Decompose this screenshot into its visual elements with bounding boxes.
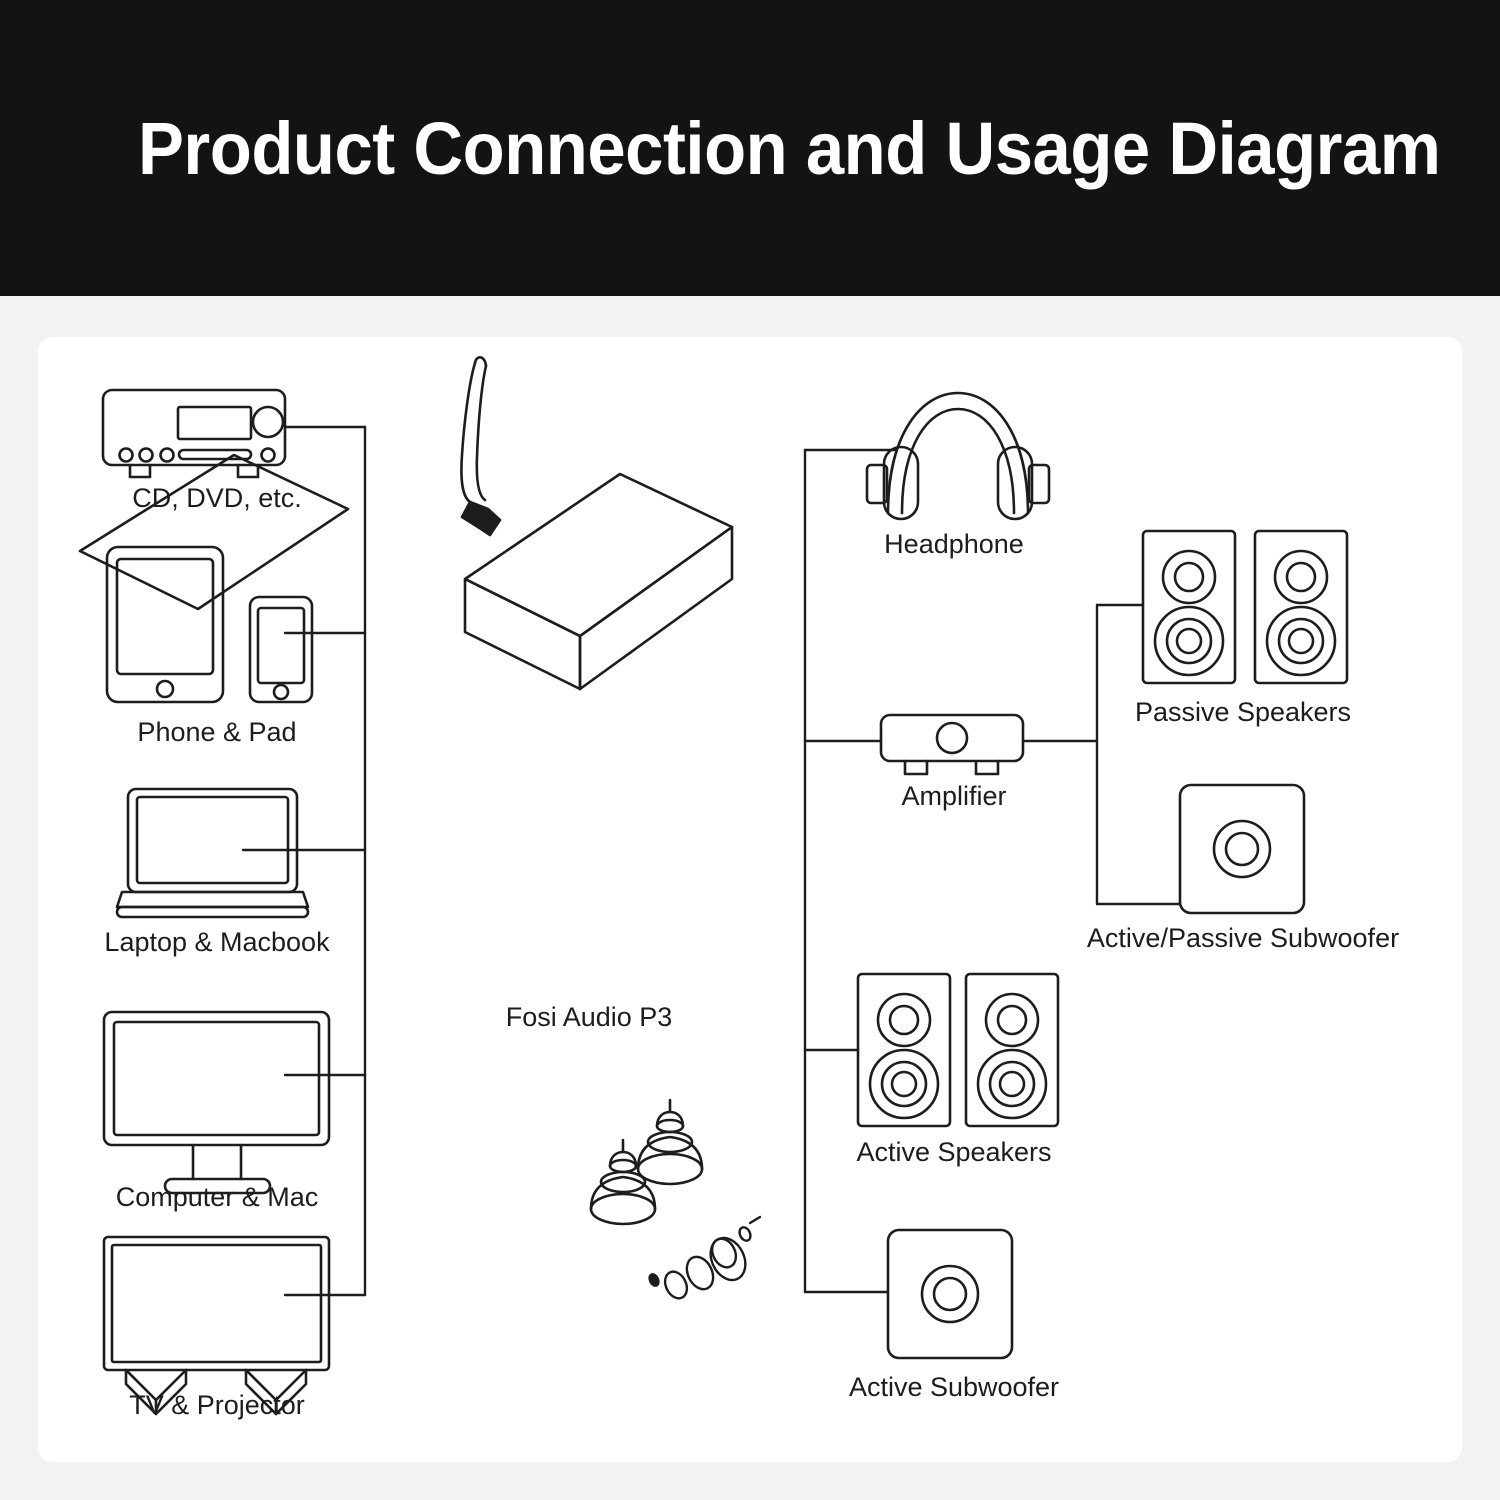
label-cd-dvd: CD, DVD, etc. xyxy=(132,483,302,514)
label-phone-pad: Phone & Pad xyxy=(137,717,296,748)
label-fosi-audio-p3: Fosi Audio P3 xyxy=(506,1002,673,1033)
label-active-speakers: Active Speakers xyxy=(856,1137,1051,1168)
amplifier-box-icon xyxy=(881,715,1023,774)
active-passive-subwoofer-icon xyxy=(1180,785,1304,913)
laptop-icon xyxy=(117,789,308,917)
left-connection-bus xyxy=(243,427,365,1295)
label-headphone: Headphone xyxy=(884,529,1024,560)
label-amplifier: Amplifier xyxy=(901,781,1006,812)
page-title: Product Connection and Usage Diagram xyxy=(138,106,1441,191)
active-subwoofer-icon xyxy=(888,1230,1012,1358)
cd-dvd-player-icon xyxy=(103,390,285,477)
active-speaker-pair-icon xyxy=(858,974,1058,1126)
label-tv-projector: TV & Projector xyxy=(129,1390,305,1421)
diagram-card: CD, DVD, etc. Phone & Pad Laptop & Macbo… xyxy=(38,337,1462,1462)
headphone-icon xyxy=(867,393,1049,519)
label-passive-speakers: Passive Speakers xyxy=(1135,697,1351,728)
label-active-subwoofer: Active Subwoofer xyxy=(849,1372,1059,1403)
label-computer-mac: Computer & Mac xyxy=(116,1182,319,1213)
passive-speaker-pair-icon xyxy=(1143,531,1347,683)
television-icon xyxy=(104,1237,329,1414)
label-laptop-macbook: Laptop & Macbook xyxy=(104,927,329,958)
fosi-audio-p3-body xyxy=(465,474,760,1302)
page-background: Product Connection and Usage Diagram xyxy=(0,0,1500,1500)
tablet-phone-icon xyxy=(107,547,312,702)
page-header: Product Connection and Usage Diagram xyxy=(0,0,1500,296)
desktop-monitor-icon xyxy=(104,1012,329,1193)
label-active-passive-subwoofer: Active/Passive Subwoofer xyxy=(1087,923,1399,954)
